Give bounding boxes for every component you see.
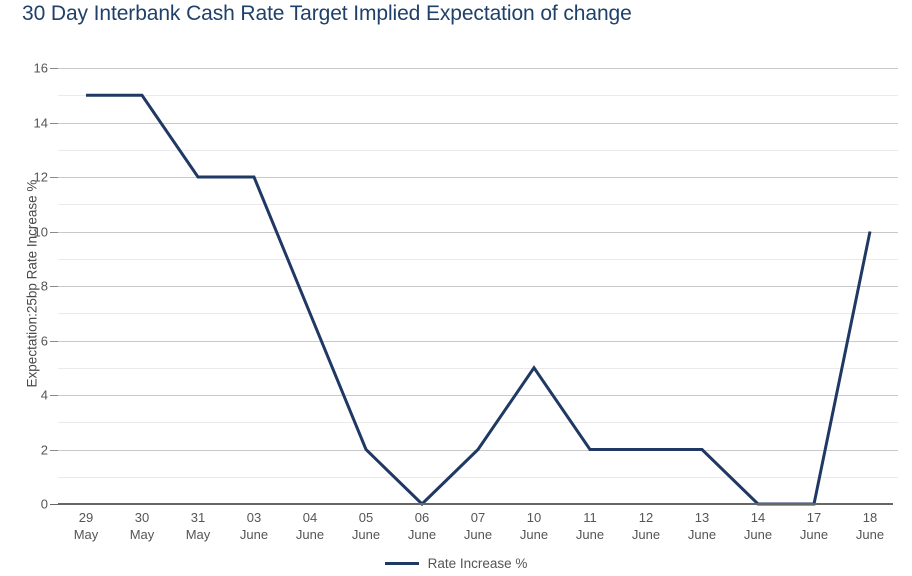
y-tickmark <box>50 286 58 287</box>
chart-title: 30 Day Interbank Cash Rate Target Implie… <box>22 2 632 26</box>
x-tick-label: 18June <box>856 509 884 543</box>
x-tick-label: 05June <box>352 509 380 543</box>
x-tick-label: 14June <box>744 509 772 543</box>
y-tickmark <box>50 395 58 396</box>
y-tick-label: 10 <box>8 224 48 239</box>
y-tick-label: 2 <box>8 442 48 457</box>
y-tick-label: 16 <box>8 61 48 76</box>
x-tick-label: 11June <box>576 509 604 543</box>
x-axis-labels: 29May30May31May03June04June05June06June0… <box>58 509 898 555</box>
x-tick-label: 30May <box>130 509 155 543</box>
x-tick-label: 17June <box>800 509 828 543</box>
legend-label-rate-increase: Rate Increase % <box>428 556 528 571</box>
chart-legend: Rate Increase % <box>0 556 912 571</box>
x-tick-label: 12June <box>632 509 660 543</box>
x-tick-label: 03June <box>240 509 268 543</box>
x-tick-label: 13June <box>688 509 716 543</box>
x-tick-label: 07June <box>464 509 492 543</box>
y-tickmark <box>50 232 58 233</box>
y-tick-label: 6 <box>8 333 48 348</box>
x-tick-label: 10June <box>520 509 548 543</box>
y-tickmark <box>50 177 58 178</box>
y-axis-labels: 0246810121416 <box>0 68 48 504</box>
series-line-rate-increase <box>86 95 870 504</box>
y-tickmark <box>50 68 58 69</box>
x-tick-label: 31May <box>186 509 211 543</box>
y-tick-label: 14 <box>8 115 48 130</box>
legend-swatch-rate-increase <box>385 562 419 565</box>
y-tick-label: 0 <box>8 497 48 512</box>
x-axis-line <box>58 503 893 505</box>
y-tickmark <box>50 504 58 505</box>
y-tickmark <box>50 341 58 342</box>
series-layer <box>58 68 898 504</box>
x-tick-label: 06June <box>408 509 436 543</box>
chart-container: 30 Day Interbank Cash Rate Target Implie… <box>0 0 912 576</box>
y-tickmark <box>50 123 58 124</box>
y-tickmark <box>50 450 58 451</box>
y-tick-label: 8 <box>8 279 48 294</box>
x-tick-label: 04June <box>296 509 324 543</box>
y-tick-label: 12 <box>8 170 48 185</box>
plot-area <box>58 68 898 504</box>
y-tick-label: 4 <box>8 388 48 403</box>
x-tick-label: 29May <box>74 509 99 543</box>
